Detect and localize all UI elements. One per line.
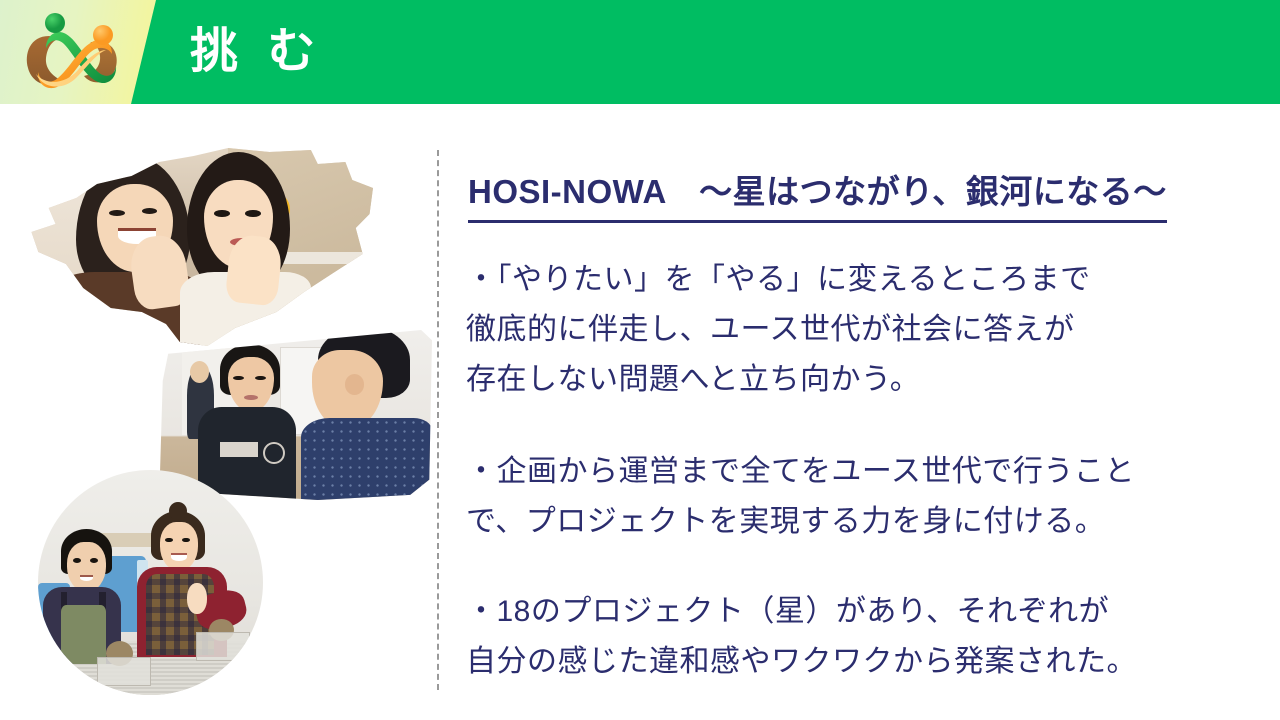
page-title-heading: 挑 む (190, 26, 323, 78)
content-paragraph-1: ・「やりたい」を「やる」に変えるところまで 徹底的に伴走し、ユース世代が社会に答… (466, 255, 1266, 405)
header-banner: 挑 む (0, 0, 1280, 104)
photo-child-and-woman-craft (38, 470, 263, 695)
logo-head-green (45, 13, 65, 33)
logo-head-orange (93, 25, 113, 45)
photo-two-girls-peace-sign (28, 148, 373, 348)
content-paragraph-2: ・企画から運営まで全てをユース世代で行うこと で、プロジェクトを実現する力を身に… (466, 447, 1266, 547)
content-title: HOSI-NOWA 〜星はつながり、銀河になる〜 (468, 170, 1167, 223)
infinity-people-logo-icon (16, 6, 136, 100)
content-column: HOSI-NOWA 〜星はつながり、銀河になる〜 ・「やりたい」を「やる」に変え… (466, 170, 1266, 687)
content-paragraph-3: ・18のプロジェクト（星）があり、それぞれが 自分の感じた違和感やワクワクから発… (466, 587, 1266, 687)
organization-logo (16, 6, 136, 100)
photo-collage (0, 130, 440, 710)
